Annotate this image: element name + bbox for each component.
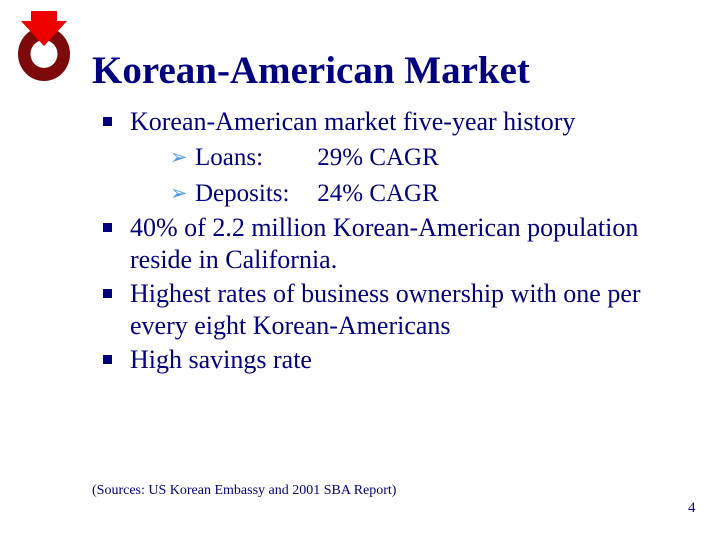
sources-footnote: (Sources: US Korean Embassy and 2001 SBA… (92, 482, 396, 500)
slide-canvas: Korean-American Market Korean-American m… (0, 0, 720, 540)
bullet-item-level1: High savings rate (100, 344, 700, 376)
bullet-item-level2: ➢ Deposits: 24% CAGR (100, 176, 700, 212)
page-number: 4 (688, 499, 696, 517)
slide-title: Korean-American Market (92, 48, 530, 94)
arrow-bullet-icon: ➢ (170, 147, 190, 167)
bullet-text: 40% of 2.2 million Korean-American popul… (130, 212, 700, 276)
bullet-text: Korean-American market five-year history (130, 106, 700, 138)
bullet-list: Korean-American market five-year history… (100, 106, 700, 378)
arrow-bullet-icon: ➢ (170, 183, 190, 203)
sub-bullet-label: Deposits: (195, 176, 311, 212)
bullet-item-level1: Highest rates of business ownership with… (100, 278, 700, 342)
sub-bullet-value: 24% CAGR (317, 176, 439, 212)
bullet-item-level1: 40% of 2.2 million Korean-American popul… (100, 212, 700, 276)
square-bullet-icon (103, 117, 112, 126)
sub-bullet-label: Loans: (195, 140, 311, 176)
bullet-text: Highest rates of business ownership with… (130, 278, 700, 342)
bullet-item-level1: Korean-American market five-year history (100, 106, 700, 138)
square-bullet-icon (103, 355, 112, 364)
hanmi-bank-logo-icon (9, 9, 79, 83)
square-bullet-icon (103, 289, 112, 298)
square-bullet-icon (103, 223, 112, 232)
bullet-item-level2: ➢ Loans: 29% CAGR (100, 140, 700, 176)
bullet-text: High savings rate (130, 344, 700, 376)
sub-bullet-value: 29% CAGR (317, 140, 439, 176)
